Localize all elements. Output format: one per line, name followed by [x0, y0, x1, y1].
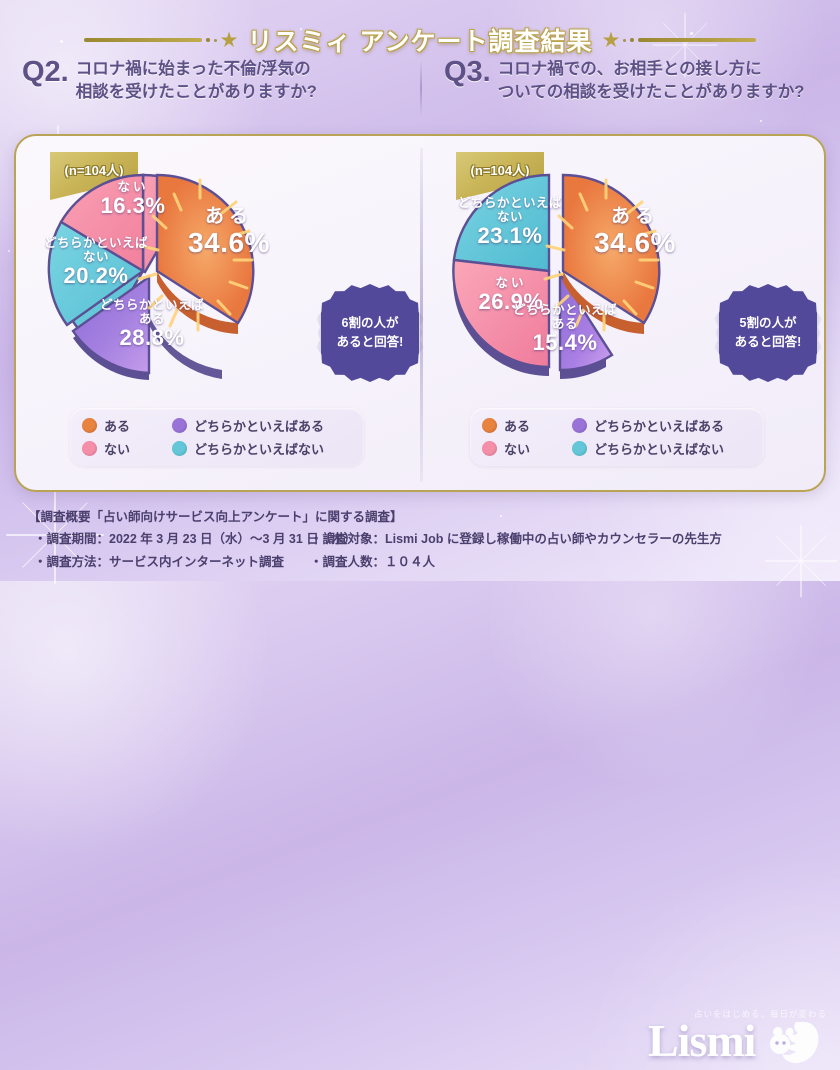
legend-label: どちらかといえばある [194, 416, 324, 435]
decoration-dot [214, 39, 217, 42]
legend-q3: ある どちらかといえばある ない どちらかといえばない [470, 408, 764, 466]
question-line-1: コロナ禍での、お相手との接し方に [498, 58, 805, 81]
page-footer: 【調査概要「占い師向けサービス向上アンケート」に関する調査】 ・調査期間：202… [0, 498, 840, 581]
legend-color-swatch [482, 418, 497, 433]
question-line-2: ついての相談を受けたことがありますか? [498, 81, 805, 104]
chart-panel-q3: (n=104人) [422, 136, 828, 494]
legend-label: ない [104, 439, 130, 458]
title-decoration-right [602, 32, 756, 49]
badge-line-2: あると回答! [735, 333, 802, 352]
squirrel-icon [760, 1016, 822, 1066]
decoration-dot [630, 38, 634, 42]
decoration-line [638, 38, 756, 42]
sparkle-dot [760, 120, 762, 122]
legend-label: どちらかといえばない [194, 439, 324, 458]
legend-color-swatch [572, 418, 587, 433]
legend-color-swatch [82, 441, 97, 456]
sparkle-dot [8, 250, 10, 252]
question-row: Q2. コロナ禍に始まった不倫/浮気の 相談を受けたことがありますか? Q3. … [0, 58, 840, 120]
legend-color-swatch [172, 418, 187, 433]
legend-label: どちらかといえばある [594, 416, 724, 435]
legend-label: ない [504, 439, 530, 458]
question-number: Q3. [444, 58, 491, 87]
legend-item-dochira-nai: どちらかといえばない [572, 439, 752, 458]
annotation-badge-q2: 6割の人が あると回答! [321, 284, 419, 382]
legend-item-dochira-nai: どちらかといえばない [172, 439, 352, 458]
star-icon [221, 32, 238, 49]
question-line-2: 相談を受けたことがありますか? [76, 81, 317, 104]
pie-chart-q2: ない 16.3% どちらかといえば ない 20.2% どちらかといえば ある 2… [36, 158, 356, 388]
page-title: リスミィ アンケート調査結果 [248, 22, 593, 58]
survey-method: ・調査方法：サービス内インターネット調査 [34, 551, 284, 570]
legend-q2: ある どちらかといえばある ない どちらかといえばない [70, 408, 364, 466]
star-icon [602, 32, 619, 49]
legend-item-aru: ある [82, 416, 158, 435]
question-q3: Q3. コロナ禍での、お相手との接し方に ついての相談を受けたことがありますか? [418, 58, 840, 120]
legend-label: ある [504, 416, 530, 435]
question-body: コロナ禍に始まった不倫/浮気の 相談を受けたことがありますか? [76, 58, 317, 105]
survey-count: ・調査人数：１０４人 [310, 551, 435, 570]
decoration-dot [623, 39, 626, 42]
title-decoration-left [84, 32, 238, 49]
legend-item-nai: ない [82, 439, 158, 458]
question-number: Q2. [22, 58, 69, 87]
legend-item-aru: ある [482, 416, 558, 435]
logo-wordmark: Lismi [648, 1014, 755, 1067]
question-line-1: コロナ禍に始まった不倫/浮気の [76, 58, 317, 81]
legend-item-dochira-aru: どちらかといえばある [572, 416, 752, 435]
survey-overview-heading: 【調査概要「占い師向けサービス向上アンケート」に関する調査】 [28, 506, 403, 525]
badge-line-1: 6割の人が [342, 314, 399, 333]
legend-color-swatch [572, 441, 587, 456]
legend-label: どちらかといえばない [594, 439, 724, 458]
lismi-logo[interactable]: 占いをはじめる、毎日が変わる Lismi [648, 1004, 828, 1070]
question-body: コロナ禍での、お相手との接し方に ついての相談を受けたことがありますか? [498, 58, 805, 105]
legend-color-swatch [172, 441, 187, 456]
annotation-badge-q3: 5割の人が あると回答! [719, 284, 817, 382]
survey-target: ・調査対象：Lismi Job に登録し稼働中の占い師やカウンセラーの先生方 [310, 528, 722, 547]
legend-item-dochira-aru: どちらかといえばある [172, 416, 352, 435]
pie-chart-q3: どちらかといえば ない 23.1% ない 26.9% どちらかといえば ある 1… [442, 158, 762, 388]
legend-color-swatch [82, 418, 97, 433]
question-q2: Q2. コロナ禍に始まった不倫/浮気の 相談を受けたことがありますか? [0, 58, 418, 120]
charts-card: (n=104人) [14, 134, 826, 492]
legend-color-swatch [482, 441, 497, 456]
legend-item-nai: ない [482, 439, 558, 458]
legend-label: ある [104, 416, 130, 435]
badge-line-2: あると回答! [337, 333, 404, 352]
decoration-line [84, 38, 202, 42]
badge-line-1: 5割の人が [740, 314, 797, 333]
chart-panel-q2: (n=104人) [16, 136, 422, 494]
page-header: リスミィ アンケート調査結果 [0, 18, 840, 62]
survey-period: ・調査期間：2022 年 3 月 23 日（水）〜3 月 31 日（木） [34, 528, 356, 547]
decoration-dot [206, 38, 210, 42]
